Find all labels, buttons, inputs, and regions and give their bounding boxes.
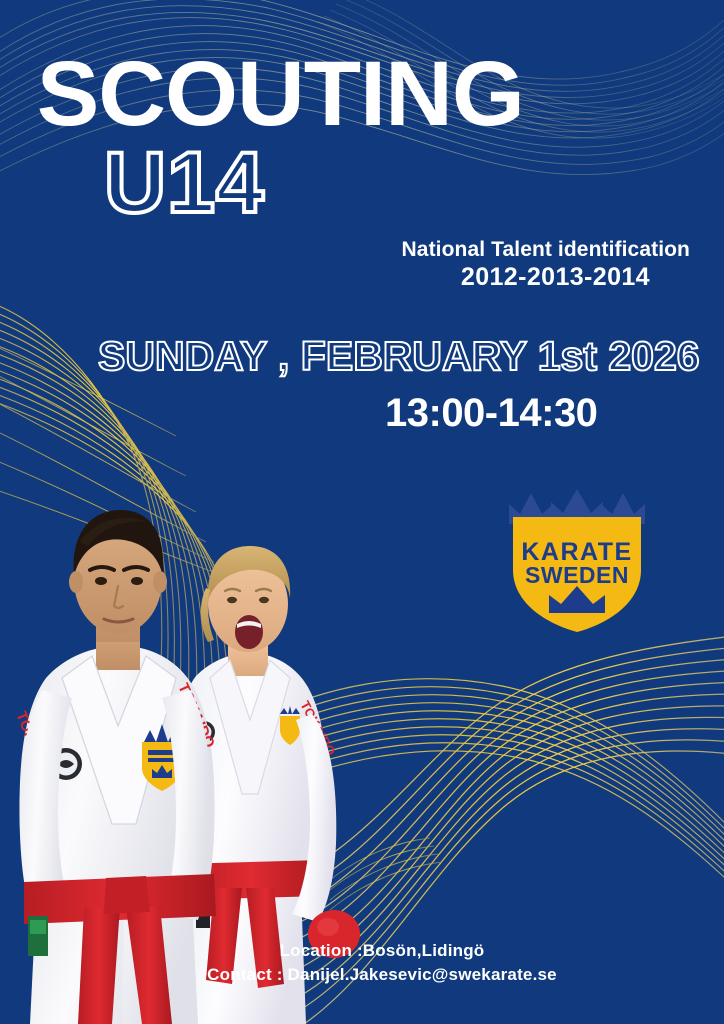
footer-block: Location :Bosön,Lidingö Contact : Danije… — [0, 939, 724, 988]
female-open-mouth — [235, 615, 263, 649]
event-date: SUNDAY , FEBRUARY 1st 2026 — [98, 333, 700, 380]
subtitle-birth-years: 2012-2013-2014 — [402, 262, 690, 292]
subtitle-block: National Talent identification 2012-2013… — [402, 238, 690, 292]
footer-contact: Contact : Danijel.Jakesevic@swekarate.se — [40, 963, 724, 988]
footer-location: Location :Bosön,Lidingö — [40, 939, 724, 964]
page-title-u14: U14 — [0, 137, 724, 225]
logo-word-sweden: SWEDEN — [525, 562, 629, 588]
scouting-u14-poster: SCOUTING U14 National Talent identificat… — [0, 0, 724, 1024]
subtitle-description: National Talent identification — [402, 238, 690, 262]
karate-sweden-logo: KARATE SWEDEN — [501, 484, 653, 634]
page-title-scouting: SCOUTING — [0, 52, 724, 137]
event-time: 13:00-14:30 — [385, 391, 597, 436]
headline-block: SCOUTING U14 — [0, 52, 724, 224]
